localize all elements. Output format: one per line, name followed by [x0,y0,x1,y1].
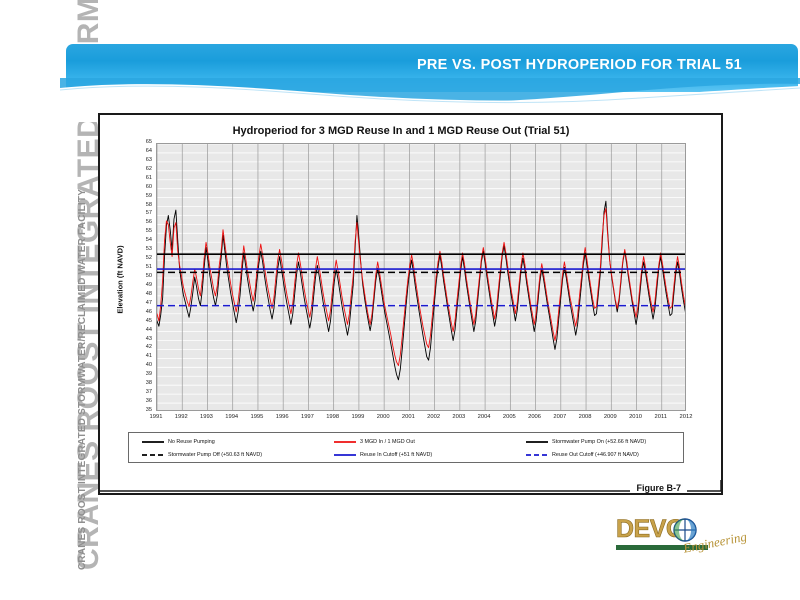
legend-item: Reuse Out Cutoff (+46.907 ft NAVD) [525,449,639,461]
legend-label: Stormwater Pump Off (+50.63 ft NAVD) [168,452,262,458]
legend-label: Reuse In Cutoff (+51 ft NAVD) [360,452,432,458]
y-axis-tick: 61 [112,176,152,182]
y-axis-tick: 47 [112,301,152,307]
figure-caption-row: Figure B-7 [98,480,723,502]
legend-item: No Reuse Pumping [141,436,215,448]
y-axis-tick: 63 [112,158,152,164]
legend-swatch [141,451,165,459]
sidebar-subtitle: CRANES ROOST INTEGRATED STORMWATER/RECLA… [78,189,88,570]
y-axis-tick: 56 [112,220,152,226]
y-axis-tick: 52 [112,256,152,262]
chart-title: Hydroperiod for 3 MGD Reuse In and 1 MGD… [106,125,696,137]
legend-label: Reuse Out Cutoff (+46.907 ft NAVD) [552,452,639,458]
legend-item: Stormwater Pump Off (+50.63 ft NAVD) [141,449,262,461]
plot-area [156,143,686,411]
legend-item: Stormwater Pump On (+52.66 ft NAVD) [525,436,646,448]
legend-swatch [525,438,549,446]
y-axis-tick: 55 [112,229,152,235]
plot-wrapper: 6564636261605958575655545352515049484746… [134,143,686,415]
y-axis-tick: 36 [112,399,152,405]
x-axis-tick: 2012 [666,415,706,421]
y-axis-tick: 54 [112,238,152,244]
legend-item: 3 MGD In / 1 MGD Out [333,436,415,448]
chart-legend: No Reuse Pumping3 MGD In / 1 MGD OutStor… [128,432,684,463]
legend-item: Reuse In Cutoff (+51 ft NAVD) [333,449,432,461]
legend-label: 3 MGD In / 1 MGD Out [360,439,415,445]
y-axis-tick: 35 [112,408,152,414]
legend-swatch [141,438,165,446]
hydroperiod-chart: Hydroperiod for 3 MGD Reuse In and 1 MGD… [106,125,696,470]
y-axis-tick: 58 [112,203,152,209]
legend-swatch [333,438,357,446]
y-axis-tick: 38 [112,381,152,387]
y-axis-tick: 45 [112,319,152,325]
figure-caption: Figure B-7 [630,483,687,493]
page-title: PRE VS. POST HYDROPERIOD FOR TRIAL 51 [417,57,742,73]
y-axis-tick: 49 [112,283,152,289]
y-axis-tick: 65 [112,140,152,146]
y-axis-tick: 59 [112,194,152,200]
y-axis-tick: 62 [112,167,152,173]
y-axis-tick: 46 [112,310,152,316]
y-axis-tick: 50 [112,274,152,280]
y-axis-tick: 37 [112,390,152,396]
y-axis-tick: 60 [112,185,152,191]
legend-swatch [525,451,549,459]
y-axis-tick: 48 [112,292,152,298]
legend-swatch [333,451,357,459]
y-axis-tick: 40 [112,363,152,369]
y-axis-tick: 53 [112,247,152,253]
legend-label: Stormwater Pump On (+52.66 ft NAVD) [552,439,646,445]
y-axis-tick: 42 [112,345,152,351]
legend-label: No Reuse Pumping [168,439,215,445]
y-axis-tick: 39 [112,372,152,378]
header-banner: PRE VS. POST HYDROPERIOD FOR TRIAL 51 [66,44,798,92]
y-axis-tick: 44 [112,328,152,334]
devo-engineering-logo: DEVO Engineering [610,515,740,567]
y-axis-tick: 64 [112,149,152,155]
y-axis-tick: 41 [112,354,152,360]
y-axis-tick: 51 [112,265,152,271]
y-axis-tick: 43 [112,337,152,343]
y-axis-tick: 57 [112,211,152,217]
